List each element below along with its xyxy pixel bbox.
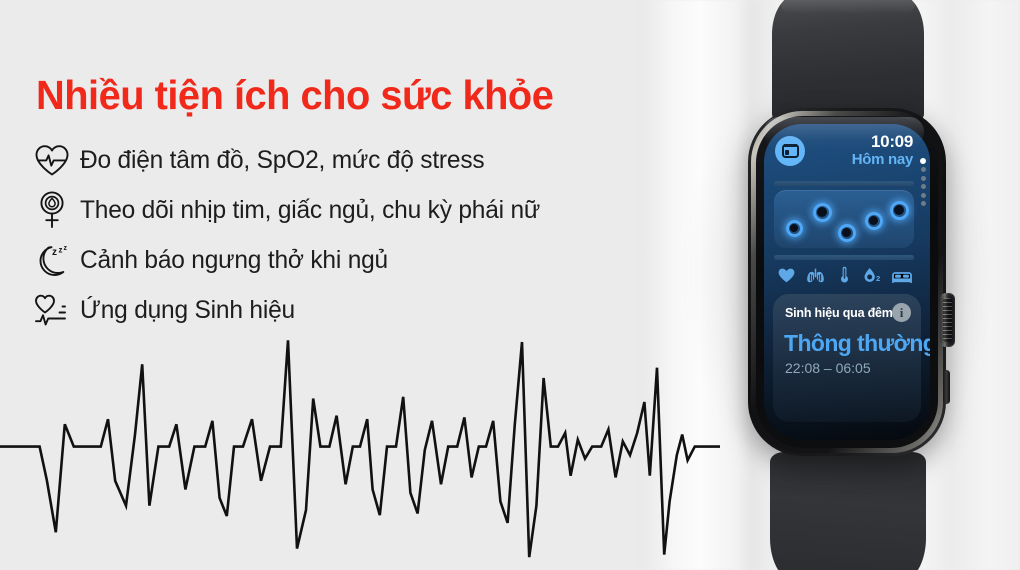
page-dot [921,167,926,172]
svg-text:z: z [52,247,57,258]
svg-text:2: 2 [876,274,880,283]
info-icon[interactable]: i [892,303,911,322]
page-dot [921,201,926,206]
divider-top [774,181,914,186]
day-label: Hôm nay [852,151,913,168]
smartwatch: 10:09 Hôm nay [742,0,952,570]
moon-sleep-icon: z z z [24,237,80,283]
watch-screen[interactable]: 10:09 Hôm nay [764,124,930,440]
list-item-label: Ứng dụng Sinh hiệu [80,296,295,325]
data-point [894,205,904,215]
page-title: Nhiều tiện ích cho sức khỏe [36,72,553,119]
vitals-card-icon[interactable] [775,136,805,166]
card-glyph [782,144,799,158]
thermometer-icon[interactable] [834,265,854,283]
vitals-card-range: 22:08 – 06:05 [785,360,871,376]
page-dot [921,176,926,181]
list-item: Ứng dụng Sinh hiệu [24,285,644,335]
promo-banner: Nhiều tiện ích cho sức khỏe Đo điện tâm … [0,0,1020,570]
page-dot [921,193,926,198]
page-dot [921,184,926,189]
metric-icon-row: 2 [776,265,912,283]
watch-case: 10:09 Hôm nay [748,108,946,456]
watch-band-bottom [770,452,926,570]
metric-dots-card[interactable] [774,190,914,248]
vitals-card[interactable]: Sinh hiệu qua đêm i Thông thường 22:08 –… [773,294,921,422]
watch-band-top [772,0,924,124]
heart-pulse-icon [24,137,80,183]
blood-oxygen-icon[interactable]: 2 [863,265,883,283]
list-item-label: Theo dõi nhịp tim, giấc ngủ, chu kỳ phái… [80,196,540,225]
watch-status-bar: 10:09 Hôm nay [764,132,930,176]
list-item-label: Cảnh báo ngưng thở khi ngủ [80,246,388,275]
data-point [869,216,878,225]
female-cycle-icon [24,187,80,233]
divider-bottom [774,255,914,260]
page-dot [920,158,926,164]
bed-icon[interactable] [892,265,912,283]
ecg-waveform [0,330,720,570]
vitals-card-value: Thông thường [784,330,930,357]
side-button[interactable] [943,370,950,404]
svg-text:z: z [64,245,68,252]
page-indicator[interactable] [920,158,926,206]
clock: 10:09 [871,132,913,152]
data-point [842,228,851,237]
vitals-heart-icon [24,287,80,333]
list-item: Đo điện tâm đồ, SpO2, mức độ stress [24,135,644,185]
data-point [790,224,798,232]
feature-list: Đo điện tâm đồ, SpO2, mức độ stress Theo… [24,135,644,335]
vitals-card-title: Sinh hiệu qua đêm [785,306,893,320]
list-item: Theo dõi nhịp tim, giấc ngủ, chu kỳ phái… [24,185,644,235]
data-point [817,207,827,217]
lungs-icon[interactable] [805,265,825,283]
list-item: z z z Cảnh báo ngưng thở khi ngủ [24,235,644,285]
digital-crown[interactable] [940,293,955,347]
list-item-label: Đo điện tâm đồ, SpO2, mức độ stress [80,146,484,175]
heart-icon[interactable] [776,265,796,283]
svg-text:z: z [59,246,63,255]
